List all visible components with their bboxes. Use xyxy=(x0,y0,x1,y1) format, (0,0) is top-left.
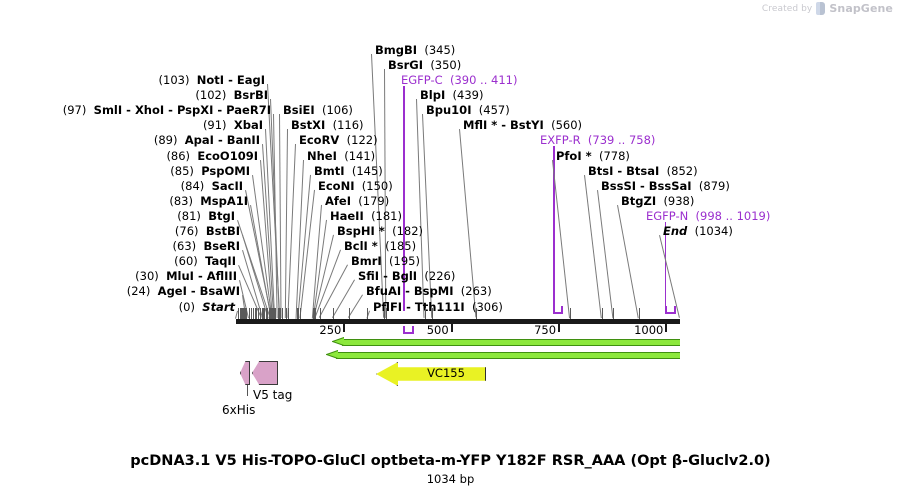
6xhis-tag-arrow[interactable] xyxy=(240,361,250,385)
ruler-tick xyxy=(665,324,667,332)
ruler-tick xyxy=(451,324,453,332)
cut-site-tick xyxy=(320,308,321,319)
primer-arrow-upper[interactable] xyxy=(332,337,680,346)
enzyme-label-ecorv[interactable]: EcoRV (122) xyxy=(299,134,378,146)
enzyme-label-btsi[interactable]: BtsI - BtsaI (852) xyxy=(588,165,698,177)
feature-name: EGFP-N xyxy=(646,209,688,223)
enzyme-name: EcoNI xyxy=(318,179,354,193)
v5-tag-label: V5 tag xyxy=(253,388,292,402)
leader-line xyxy=(348,295,363,318)
snapgene-map-canvas: Created by SnapGene (103) NotI - EagI(10… xyxy=(0,0,901,493)
feature-mark-end xyxy=(553,306,555,314)
feature-range: (998 .. 1019) xyxy=(696,209,771,223)
enzyme-name: SfiI - BglI xyxy=(358,269,417,283)
ruler-tick xyxy=(343,324,345,332)
enzyme-position: (83) xyxy=(169,194,193,208)
cut-site-tick xyxy=(246,308,247,319)
watermark-brand: SnapGene xyxy=(829,2,893,15)
primer-arrow-lower[interactable] xyxy=(326,350,680,359)
enzyme-position: (97) xyxy=(63,103,87,117)
feature-mark-end xyxy=(674,306,676,314)
enzyme-label-bstxi[interactable]: BstXI (116) xyxy=(291,119,364,131)
enzyme-name: SacII xyxy=(212,179,243,193)
enzyme-name: Bpu10I xyxy=(426,103,471,117)
enzyme-position: (122) xyxy=(347,133,378,147)
enzyme-name: BtgI xyxy=(208,209,235,223)
enzyme-label-bsrbi[interactable]: (102) BsrBI xyxy=(195,89,268,101)
cut-site-tick xyxy=(251,308,252,319)
6xhis-tag-label: 6xHis xyxy=(222,403,255,417)
enzyme-position: (63) xyxy=(173,239,197,253)
enzyme-position: (145) xyxy=(352,164,383,178)
enzyme-label-afei[interactable]: AfeI (179) xyxy=(325,195,389,207)
enzyme-label-bsrgi[interactable]: BsrGI (350) xyxy=(388,59,461,71)
enzyme-label-sacii[interactable]: (84) SacII xyxy=(181,180,243,192)
enzyme-label-start[interactable]: (0) Start xyxy=(179,301,235,313)
enzyme-position: (116) xyxy=(333,118,364,132)
enzyme-label-agei[interactable]: (24) AgeI - BsaWI xyxy=(127,285,240,297)
cut-site-tick xyxy=(367,308,368,319)
enzyme-label-nhei[interactable]: NheI (141) xyxy=(307,150,375,162)
primer-arrow-shaft xyxy=(342,339,680,346)
enzyme-name: ApaI - BanII xyxy=(185,133,260,147)
enzyme-position: (76) xyxy=(175,224,199,238)
enzyme-position: (81) xyxy=(177,209,201,223)
feature-label-egfp-n[interactable]: EGFP-N (998 .. 1019) xyxy=(646,210,770,222)
enzyme-name: BsrGI xyxy=(388,58,423,72)
sequence-backbone xyxy=(236,319,680,324)
enzyme-label-xbai[interactable]: (91) XbaI xyxy=(203,119,263,131)
enzyme-label-bseri[interactable]: (63) BseRI xyxy=(173,240,240,252)
enzyme-position: (350) xyxy=(430,58,461,72)
enzyme-label-bmgbi[interactable]: BmgBI (345) xyxy=(375,44,455,56)
enzyme-label-bmti[interactable]: BmtI (145) xyxy=(314,165,383,177)
enzyme-name: MspA1I xyxy=(200,194,248,208)
enzyme-name: BsiEI xyxy=(283,103,315,117)
enzyme-position: (457) xyxy=(479,103,510,117)
cut-site-tick xyxy=(432,308,433,319)
feature-range: (390 .. 411) xyxy=(450,73,518,87)
feature-name: EXFP-R xyxy=(540,133,581,147)
enzyme-name: BspHI * xyxy=(337,224,385,238)
enzyme-label-bsphi[interactable]: BspHI * (182) xyxy=(337,225,423,237)
enzyme-label-blpi[interactable]: BlpI (439) xyxy=(420,89,483,101)
enzyme-position: (150) xyxy=(362,179,393,193)
cut-site-tick xyxy=(639,308,640,319)
enzyme-position: (84) xyxy=(181,179,205,193)
enzyme-label-bpu10i[interactable]: Bpu10I (457) xyxy=(426,104,510,116)
enzyme-position: (24) xyxy=(127,284,151,298)
cut-site-tick xyxy=(570,308,571,319)
enzyme-name: MluI - AflIII xyxy=(166,269,237,283)
enzyme-name: End xyxy=(663,224,687,238)
enzyme-name: BclI * xyxy=(344,239,378,253)
enzyme-name: BstBI xyxy=(206,224,240,238)
cut-site-tick xyxy=(275,308,276,319)
enzyme-name: Start xyxy=(202,300,235,314)
enzyme-name: BtsI - BtsaI xyxy=(588,164,659,178)
leader-line xyxy=(287,144,296,318)
cut-site-tick xyxy=(315,308,316,319)
enzyme-label-noti[interactable]: (103) NotI - EagI xyxy=(159,74,265,86)
enzyme-name: BfuAI - BspMI xyxy=(366,284,453,298)
feature-name: EGFP-C xyxy=(401,73,443,87)
cut-site-tick xyxy=(384,308,385,319)
enzyme-name: SmlI - XhoI - PspXI - PaeR7I xyxy=(94,103,271,117)
feature-label-exfp-r[interactable]: EXFP-R (739 .. 758) xyxy=(540,134,655,146)
enzyme-position: (141) xyxy=(344,149,375,163)
enzyme-name: BsrBI xyxy=(234,88,268,102)
leader-line xyxy=(584,175,602,319)
enzyme-label-bsiei[interactable]: BsiEI (106) xyxy=(283,104,353,116)
enzyme-label-btgzi[interactable]: BtgZI (938) xyxy=(621,195,694,207)
enzyme-name: AfeI xyxy=(325,194,351,208)
enzyme-position: (879) xyxy=(699,179,730,193)
cut-site-tick xyxy=(349,308,350,319)
cut-site-tick xyxy=(282,308,283,319)
ruler-tick-label: 250 xyxy=(319,323,343,337)
enzyme-name: BssSI - BssSaI xyxy=(601,179,692,193)
leader-line xyxy=(617,205,639,318)
enzyme-position: (345) xyxy=(424,43,455,57)
enzyme-label-sfii[interactable]: SfiI - BglI (226) xyxy=(358,270,455,282)
enzyme-position: (195) xyxy=(389,254,420,268)
enzyme-label-smli[interactable]: (97) SmlI - XhoI - PspXI - PaeR7I xyxy=(63,104,271,116)
enzyme-label-end[interactable]: End (1034) xyxy=(663,225,733,237)
enzyme-position: (439) xyxy=(453,88,484,102)
enzyme-position: (89) xyxy=(154,133,178,147)
page-title: pcDNA3.1 V5 His-TOPO-GluCl optbeta-m-YFP… xyxy=(0,453,901,469)
enzyme-name: BmtI xyxy=(314,164,345,178)
enzyme-position: (560) xyxy=(551,118,582,132)
enzyme-name: NotI - EagI xyxy=(197,73,265,87)
primer-arrow-head-outline xyxy=(332,337,344,346)
cut-site-tick xyxy=(602,308,603,319)
feature-mark-end xyxy=(403,326,405,334)
cut-site-tick xyxy=(386,308,387,319)
orf-arrow-vc155[interactable]: VC155 xyxy=(376,362,486,386)
ruler-tick-label: 1000 xyxy=(634,323,665,337)
cut-site-tick xyxy=(425,308,426,319)
enzyme-label-apai[interactable]: (89) ApaI - BanII xyxy=(154,134,260,146)
enzyme-position: (0) xyxy=(179,300,195,314)
enzyme-label-econi[interactable]: EcoNI (150) xyxy=(318,180,393,192)
enzyme-name: TaqII xyxy=(205,254,236,268)
enzyme-position: (30) xyxy=(135,269,159,283)
enzyme-position: (91) xyxy=(203,118,227,132)
feature-label-egfp-c[interactable]: EGFP-C (390 .. 411) xyxy=(401,74,517,86)
enzyme-position: (182) xyxy=(392,224,423,238)
enzyme-label-pfoi[interactable]: PfoI * (778) xyxy=(556,150,630,162)
orf-arrow-label: VC155 xyxy=(410,366,482,380)
v5-tag-leader xyxy=(247,385,248,396)
snapgene-watermark: Created by SnapGene xyxy=(762,2,893,15)
enzyme-name: PfoI * xyxy=(556,149,592,163)
cut-site-tick xyxy=(300,308,301,319)
snapgene-logo-icon xyxy=(816,2,825,15)
enzyme-label-pflfi[interactable]: PflFI - Tth111I (306) xyxy=(373,301,503,313)
enzyme-name: XbaI xyxy=(234,118,263,132)
enzyme-name: BtgZI xyxy=(621,194,656,208)
cut-site-tick xyxy=(333,308,334,319)
enzyme-label-bfuai[interactable]: BfuAI - BspMI (263) xyxy=(366,285,492,297)
feature-mark-end xyxy=(561,306,563,314)
enzyme-label-haeii[interactable]: HaeII (181) xyxy=(330,210,402,222)
enzyme-label-taqii[interactable]: (60) TaqII xyxy=(174,255,236,267)
leader-line xyxy=(285,129,288,318)
cut-site-tick xyxy=(476,308,477,319)
enzyme-name: HaeII xyxy=(330,209,364,223)
enzyme-label-ecoo109i[interactable]: (86) EcoO109I xyxy=(166,150,258,162)
enzyme-label-bsssi[interactable]: BssSI - BssSaI (879) xyxy=(601,180,730,192)
enzyme-name: EcoRV xyxy=(299,133,339,147)
primer-arrow-head-outline xyxy=(326,350,338,359)
enzyme-label-bmri[interactable]: BmrI (195) xyxy=(351,255,420,267)
enzyme-position: (60) xyxy=(174,254,198,268)
enzyme-position: (1034) xyxy=(695,224,733,238)
enzyme-name: BmrI xyxy=(351,254,382,268)
enzyme-position: (263) xyxy=(461,284,492,298)
ruler-tick xyxy=(558,324,560,332)
leader-line xyxy=(659,235,680,318)
enzyme-label-pspomi[interactable]: (85) PspOMI xyxy=(170,165,250,177)
enzyme-name: AgeI - BsaWI xyxy=(158,284,240,298)
ruler-tick-label: 750 xyxy=(534,323,558,337)
cut-site-tick xyxy=(288,308,289,319)
cut-site-tick xyxy=(613,308,614,319)
enzyme-name: BmgBI xyxy=(375,43,417,57)
v5-tag-arrow[interactable] xyxy=(252,361,278,385)
enzyme-position: (85) xyxy=(170,164,194,178)
cut-site-tick xyxy=(298,308,299,319)
feature-range: (739 .. 758) xyxy=(588,133,656,147)
sequence-length-label: 1034 bp xyxy=(0,472,901,486)
primer-arrow-shaft xyxy=(336,352,680,359)
enzyme-name: NheI xyxy=(307,149,337,163)
feature-mark-end xyxy=(412,326,414,334)
watermark-prefix: Created by xyxy=(762,4,813,14)
enzyme-position: (226) xyxy=(424,269,455,283)
enzyme-label-btgi[interactable]: (81) BtgI xyxy=(177,210,235,222)
enzyme-name: BstXI xyxy=(291,118,325,132)
enzyme-name: MflI * - BstYI xyxy=(463,118,544,132)
enzyme-name: BlpI xyxy=(420,88,445,102)
enzyme-label-mlui[interactable]: (30) MluI - AflIII xyxy=(135,270,237,282)
enzyme-position: (778) xyxy=(599,149,630,163)
enzyme-label-bcli[interactable]: BclI * (185) xyxy=(344,240,416,252)
ruler-tick-label: 500 xyxy=(427,323,451,337)
cut-site-tick xyxy=(256,308,257,319)
enzyme-position: (181) xyxy=(371,209,402,223)
enzyme-name: BseRI xyxy=(203,239,240,253)
enzyme-label-mspa1i[interactable]: (83) MspA1I xyxy=(169,195,248,207)
cut-site-tick xyxy=(260,308,261,319)
enzyme-name: PspOMI xyxy=(201,164,250,178)
enzyme-label-mfli[interactable]: MflI * - BstYI (560) xyxy=(463,119,582,131)
enzyme-position: (106) xyxy=(322,103,353,117)
enzyme-position: (938) xyxy=(663,194,694,208)
leader-line xyxy=(279,114,282,318)
cut-site-tick xyxy=(286,308,287,319)
cut-site-tick xyxy=(249,308,250,319)
enzyme-label-bstbi[interactable]: (76) BstBI xyxy=(175,225,240,237)
enzyme-position: (102) xyxy=(195,88,226,102)
feature-mark-end xyxy=(665,306,667,314)
enzyme-name: EcoO109I xyxy=(197,149,258,163)
enzyme-position: (179) xyxy=(358,194,389,208)
enzyme-position: (103) xyxy=(159,73,190,87)
enzyme-position: (185) xyxy=(385,239,416,253)
enzyme-position: (852) xyxy=(667,164,698,178)
enzyme-position: (86) xyxy=(166,149,190,163)
